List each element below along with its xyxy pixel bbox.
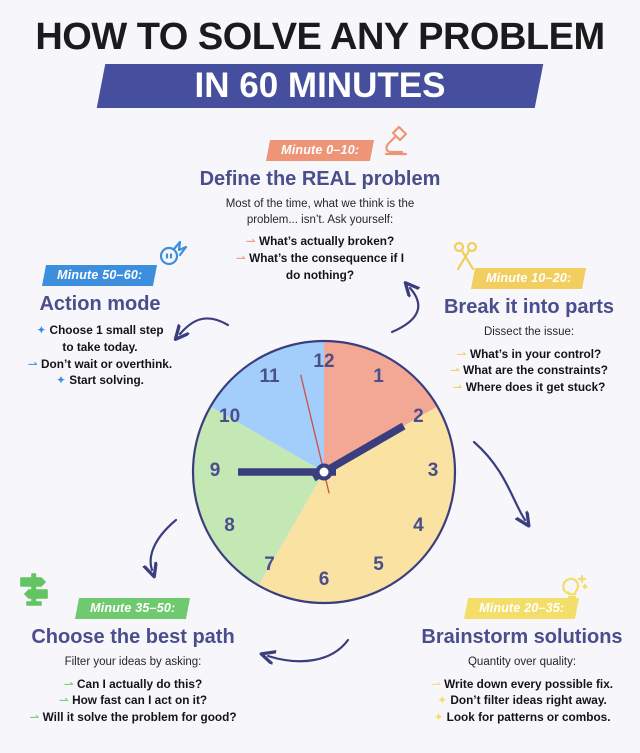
badge-choose-label: Minute 35–50:: [90, 601, 175, 615]
section-define: Minute 0–10: Define the REAL problem Mos…: [170, 140, 470, 283]
clock-number: 11: [257, 366, 283, 388]
heading-action: Action mode: [0, 293, 200, 316]
bullets-brainstorm: ⇀ Write down every possible fix. ✦ Don’t…: [404, 676, 640, 726]
badge-break: Minute 10–20:: [471, 268, 586, 289]
scissors-icon: [451, 238, 481, 272]
badge-brainstorm-label: Minute 20–35:: [479, 601, 564, 615]
list-item: ⇀ How fast can I act on it?: [0, 692, 266, 709]
clock-number: 5: [366, 554, 392, 576]
clock-number: 4: [405, 515, 431, 537]
title-banner: IN 60 MINUTES: [101, 64, 539, 108]
clock-number: 10: [217, 406, 243, 428]
clock-number: 2: [405, 406, 431, 428]
list-item: ✦ Choose 1 small step to take today.: [30, 322, 170, 356]
heading-define: Define the REAL problem: [170, 168, 470, 191]
list-item: ⇀ What are the constraints?: [418, 362, 640, 379]
clock-number: 6: [311, 569, 337, 591]
list-item: ⇀ What’s actually broken?: [170, 233, 470, 250]
title-line-2: IN 60 MINUTES: [101, 64, 539, 108]
list-item: ⇀ What’s the consequence if I do nothing…: [233, 250, 408, 284]
clock-number: 3: [420, 460, 446, 482]
bullets-break: ⇀ What’s in your control? ⇀ What are the…: [418, 346, 640, 396]
comet-icon: [156, 239, 190, 271]
section-break: Minute 10–20: Break it into parts Dissec…: [418, 268, 640, 396]
infographic-canvas: HOW TO SOLVE ANY PROBLEM IN 60 MINUTES: [0, 0, 640, 753]
list-item: ✦ Don’t filter ideas right away.: [404, 692, 640, 709]
clock-number: 12: [311, 351, 337, 373]
list-item: ⇀ Can I actually do this?: [0, 676, 266, 693]
list-item: ✦ Start solving.: [0, 372, 200, 389]
badge-define: Minute 0–10:: [266, 140, 374, 161]
clock-number: 8: [217, 515, 243, 537]
badge-action-label: Minute 50–60:: [57, 268, 142, 282]
bullets-action: ✦ Choose 1 small step to take today. ⇀ D…: [0, 322, 200, 389]
lead-brainstorm: Quantity over quality:: [404, 655, 640, 671]
badge-define-label: Minute 0–10:: [281, 143, 359, 157]
section-brainstorm: Minute 20–35: Brainstorm solutions Quant…: [404, 598, 640, 726]
badge-choose: Minute 35–50:: [75, 598, 190, 619]
section-action: Minute 50–60: Action mode ✦ Choose 1 sma…: [0, 265, 200, 389]
page-title: HOW TO SOLVE ANY PROBLEM IN 60 MINUTES: [0, 18, 640, 108]
clock-number: 1: [366, 366, 392, 388]
list-item: ⇀ Where does it get stuck?: [418, 379, 640, 396]
heading-brainstorm: Brainstorm solutions: [404, 626, 640, 649]
lead-choose: Filter your ideas by asking:: [0, 655, 266, 671]
list-item: ⇀ What’s in your control?: [418, 346, 640, 363]
signpost-icon: [17, 570, 51, 606]
lead-define: Most of the time, what we think is the p…: [213, 197, 428, 228]
clock-number: 9: [202, 460, 228, 482]
title-line-1: HOW TO SOLVE ANY PROBLEM: [0, 18, 640, 56]
clock-number: 7: [257, 554, 283, 576]
badge-action: Minute 50–60:: [42, 265, 157, 286]
heading-choose: Choose the best path: [0, 626, 266, 649]
list-item: ✦ Look for patterns or combos.: [404, 709, 640, 726]
list-item: ⇀ Will it solve the problem for good?: [0, 709, 266, 726]
heading-break: Break it into parts: [418, 296, 640, 319]
bullets-choose: ⇀ Can I actually do this? ⇀ How fast can…: [0, 676, 266, 726]
list-item: ⇀ Don’t wait or overthink.: [0, 356, 200, 373]
badge-break-label: Minute 10–20:: [486, 271, 571, 285]
lightbulb-icon: [556, 572, 590, 606]
list-item: ⇀ Write down every possible fix.: [404, 676, 640, 693]
lead-break: Dissect the issue:: [418, 325, 640, 341]
microscope-icon: [380, 123, 412, 157]
section-choose: Minute 35–50: Choose the best path Filte…: [0, 598, 266, 726]
clock-hub-center: [320, 468, 329, 477]
